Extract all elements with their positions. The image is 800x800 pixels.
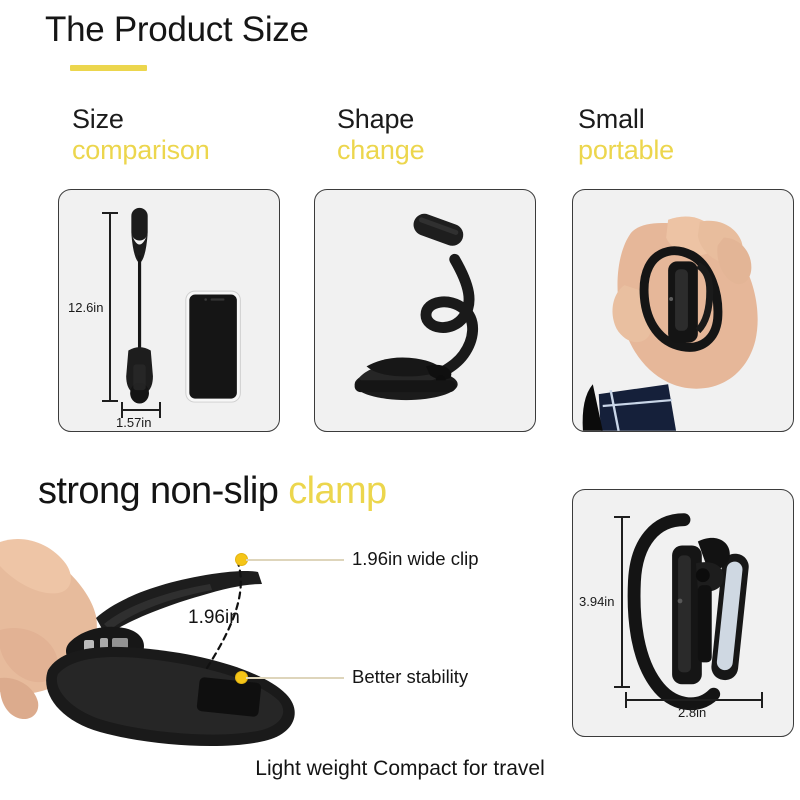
clamp-section-heading: strong non-slip clamp: [38, 468, 387, 514]
heading-line-1: Size: [72, 104, 210, 135]
clamp-opening-dimension-label: 1.96in: [188, 607, 240, 629]
heading-line-1: Shape: [337, 104, 424, 135]
footer-caption: Light weight Compact for travel: [0, 757, 800, 781]
card-folded-dimensions: 3.94in 2.8in: [572, 489, 794, 737]
dimension-label-height: 3.94in: [579, 594, 614, 609]
card-shape-change: [314, 189, 536, 432]
title-underline-rule: [70, 65, 147, 71]
dimension-label-width: 2.8in: [678, 705, 706, 720]
heading-line-2: change: [337, 135, 424, 166]
dimension-label-width: 1.57in: [116, 415, 151, 430]
section-heading-small-portable: Small portable: [578, 104, 674, 166]
page-title: The Product Size: [45, 8, 309, 52]
dimension-line-width: [121, 409, 161, 411]
callout-label-wide-clip: 1.96in wide clip: [352, 548, 479, 570]
callout-leader-better-stability: [246, 677, 344, 679]
product-size-infographic: The Product Size Size comparison Shape c…: [0, 0, 800, 800]
dimension-line-height: [621, 516, 623, 688]
heading-line-2: comparison: [72, 135, 210, 166]
dimension-line-height: [109, 212, 111, 402]
gooseneck-lamp-illustration: [315, 190, 535, 431]
heading-line-1: Small: [578, 104, 674, 135]
card-size-comparison: 12.6in 1.57in: [58, 189, 280, 432]
callout-leader-wide-clip: [246, 559, 344, 561]
callout-label-better-stability: Better stability: [352, 666, 468, 688]
card-small-portable: [572, 189, 794, 432]
hand-holding-folded-lamp-illustration: [573, 190, 793, 431]
clamp-heading-yellow: clamp: [288, 470, 386, 512]
dimension-line-width: [625, 699, 763, 701]
section-heading-shape-change: Shape change: [337, 104, 424, 166]
heading-line-2: portable: [578, 135, 674, 166]
clamp-heading-black: strong non-slip: [38, 470, 278, 512]
dimension-label-height: 12.6in: [68, 300, 103, 315]
section-heading-size-comparison: Size comparison: [72, 104, 210, 166]
hand-holding-clamp-photo: [0, 520, 340, 760]
